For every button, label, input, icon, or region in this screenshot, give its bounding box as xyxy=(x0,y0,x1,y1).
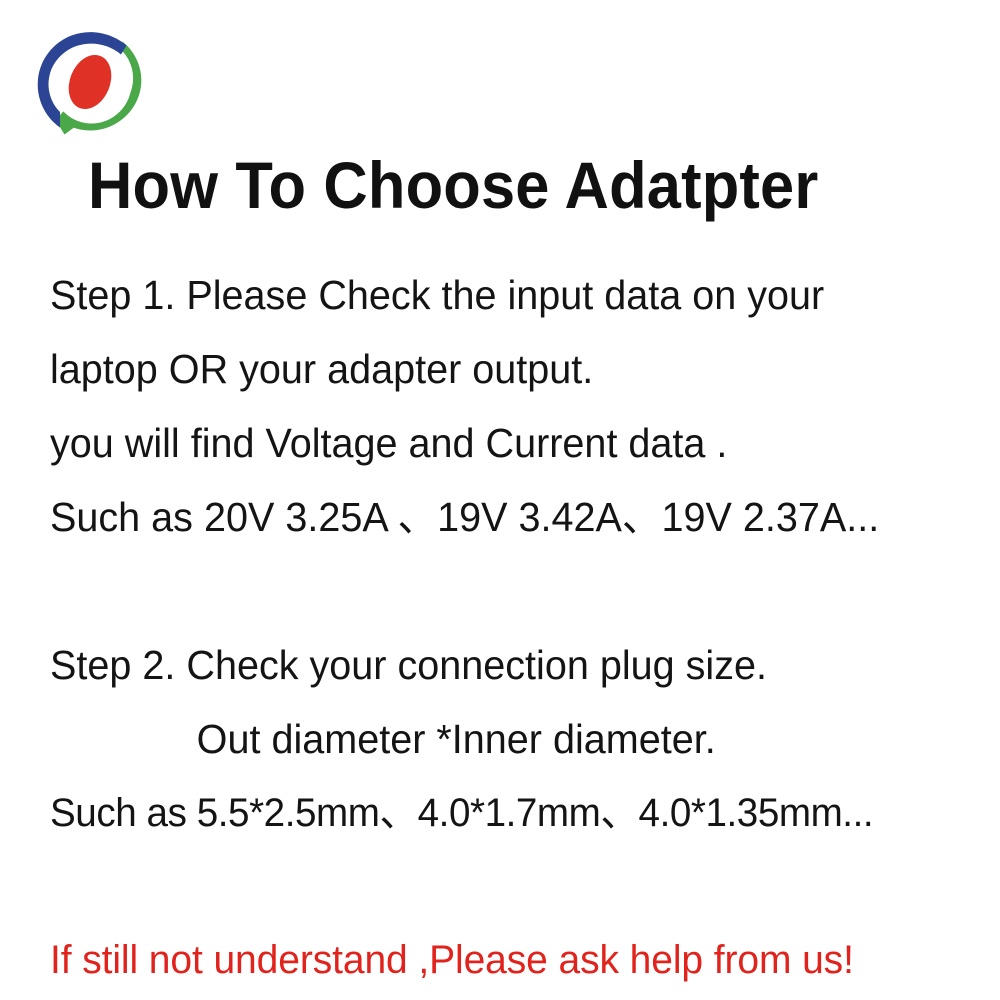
step1-line-2: laptop OR your adapter output. xyxy=(50,332,967,406)
help-callout: If still not understand ,Please ask help… xyxy=(50,930,976,990)
company-logo-graphic xyxy=(34,24,150,142)
step2-line-1: Step 2. Check your connection plug size. xyxy=(50,628,967,702)
company-logo xyxy=(34,24,150,142)
step1-line-4: Such as 20V 3.25A 、19V 3.42A、19V 2.37A..… xyxy=(50,480,967,554)
step2-line-2: Out diameter *Inner diameter. xyxy=(50,702,967,776)
section-spacer xyxy=(50,554,1000,628)
instructions-body: Step 1. Please Check the input data on y… xyxy=(50,258,1000,850)
infographic-page: How To Choose Adatpter Step 1. Please Ch… xyxy=(0,0,1000,1000)
page-title: How To Choose Adatpter xyxy=(88,146,888,224)
step1-line-3: you will find Voltage and Current data . xyxy=(50,406,967,480)
step2-line-3: Such as 5.5*2.5mm、4.0*1.7mm、4.0*1.35mm..… xyxy=(50,776,967,850)
step1-line-1: Step 1. Please Check the input data on y… xyxy=(50,258,967,332)
